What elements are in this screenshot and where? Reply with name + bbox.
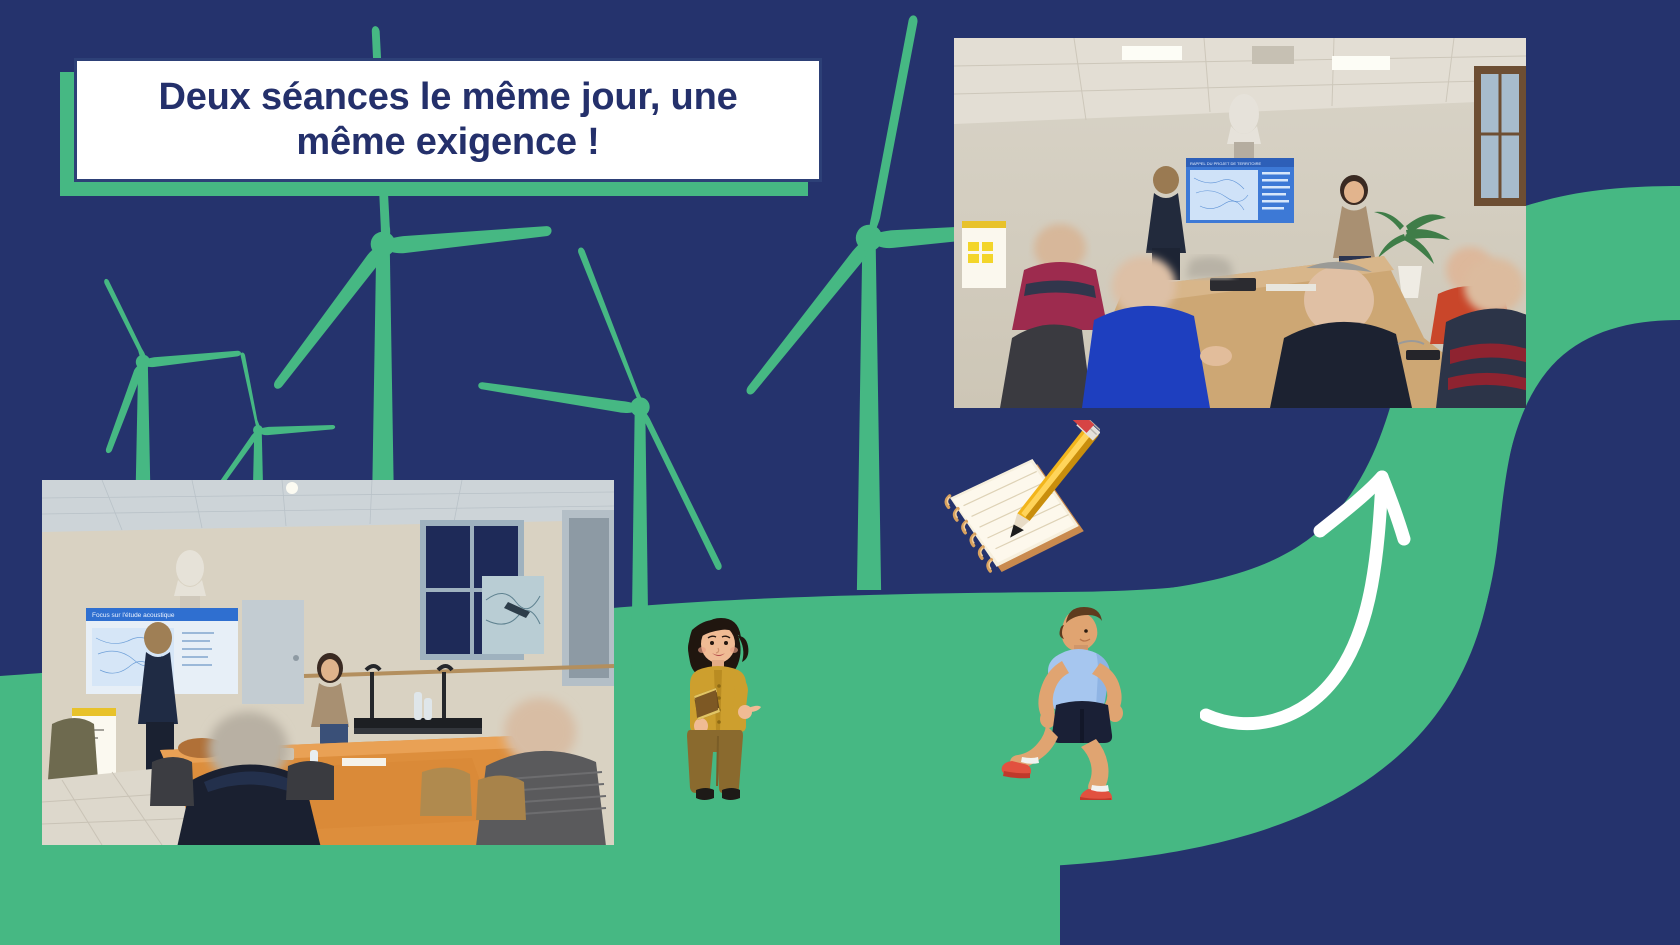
slide-canvas: RAPPEL DU PROJET DE TERRITOIRE	[0, 0, 1680, 945]
title-card: Deux séances le même jour, une même exig…	[74, 58, 822, 182]
photo-meeting-bottom: Focus sur l'étude acoustique	[42, 480, 614, 845]
woman-with-book-illustration	[668, 608, 764, 813]
svg-text:RAPPEL DU PROJET DE TERRITOIRE: RAPPEL DU PROJET DE TERRITOIRE	[1190, 161, 1262, 166]
svg-text:Focus sur l'étude acoustique: Focus sur l'étude acoustique	[92, 612, 175, 619]
running-man-illustration	[1000, 605, 1145, 800]
title-box: Deux séances le même jour, une même exig…	[74, 58, 822, 182]
curved-up-arrow-icon	[1200, 415, 1460, 745]
page-title: Deux séances le même jour, une même exig…	[77, 75, 819, 165]
photo-meeting-top: RAPPEL DU PROJET DE TERRITOIRE	[954, 38, 1526, 408]
notepad-pencil-emoji	[940, 420, 1100, 585]
